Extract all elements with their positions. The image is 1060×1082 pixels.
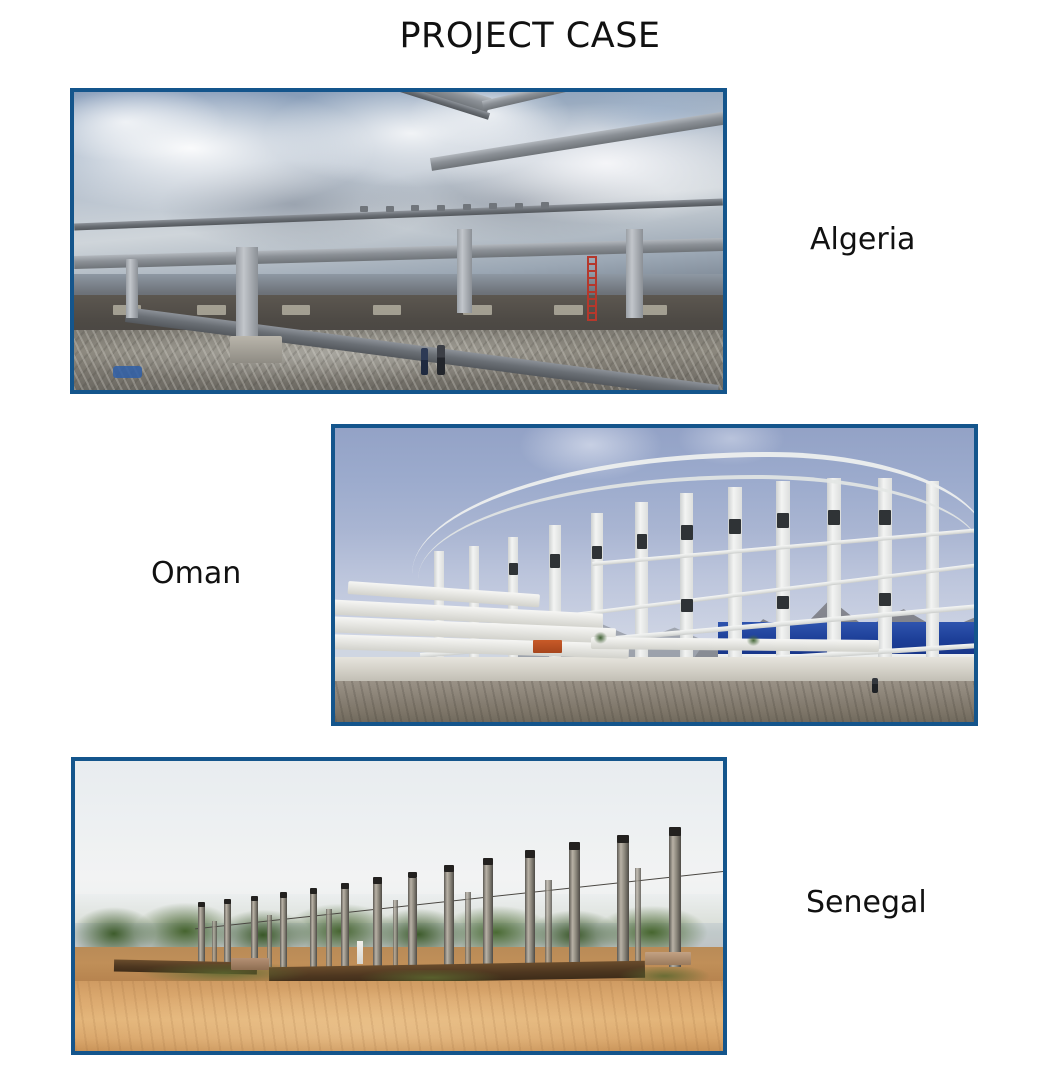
- steel-column-back: [635, 868, 641, 967]
- column-cap: [251, 896, 258, 902]
- photo-oman-canvas: [335, 428, 974, 722]
- steel-column: [669, 835, 682, 967]
- worker-b: [437, 345, 444, 375]
- column-cap: [483, 858, 493, 865]
- project-photo-oman[interactable]: [331, 424, 978, 726]
- column-mid: [457, 229, 473, 312]
- column-cap: [341, 883, 349, 889]
- photo-senegal-canvas: [75, 761, 723, 1051]
- steel-column-back: [465, 892, 471, 967]
- photo-algeria-canvas: [74, 92, 723, 390]
- concrete-footing: [645, 952, 690, 965]
- steel-column: [341, 888, 349, 968]
- column-cap: [569, 842, 580, 850]
- column-cap: [373, 877, 381, 883]
- survey-marker: [357, 941, 363, 964]
- caption-senegal: Senegal: [806, 885, 927, 920]
- steel-column: [569, 849, 580, 966]
- column-cap: [444, 865, 453, 872]
- steel-column: [525, 857, 536, 967]
- steel-column: [310, 893, 318, 968]
- steel-column: [617, 842, 629, 967]
- column-cap: [280, 892, 287, 898]
- caption-algeria: Algeria: [810, 222, 915, 257]
- palm-tree: [591, 631, 610, 649]
- column-cap: [525, 850, 536, 858]
- worker-a: [421, 348, 428, 375]
- steel-column-back: [393, 900, 399, 967]
- ladder: [587, 256, 597, 322]
- steel-column: [198, 906, 204, 970]
- column-cap: [310, 888, 318, 894]
- column-far-left: [126, 259, 138, 319]
- caption-oman: Oman: [151, 556, 241, 591]
- concrete-footing: [231, 958, 270, 970]
- steel-column: [408, 878, 417, 968]
- steel-column-back: [545, 880, 551, 967]
- column-right: [626, 229, 643, 318]
- column-cap: [408, 872, 417, 879]
- worker: [872, 678, 878, 693]
- palm-tree: [744, 634, 763, 650]
- concrete-block: [230, 336, 282, 363]
- column-cap: [198, 902, 204, 907]
- steel-column: [483, 864, 493, 967]
- page-title: PROJECT CASE: [0, 16, 1060, 56]
- column-cap: [669, 827, 682, 835]
- steel-column: [373, 883, 381, 967]
- orange-container: [533, 640, 562, 653]
- steel-column-back: [326, 909, 331, 967]
- blue-tarp: [113, 366, 142, 378]
- steel-column: [280, 897, 287, 970]
- column-cap: [617, 835, 629, 843]
- site-ground: [335, 681, 974, 722]
- steel-column: [444, 871, 453, 967]
- column-cap: [224, 899, 231, 904]
- steel-column: [224, 903, 231, 970]
- project-photo-senegal[interactable]: [71, 757, 727, 1055]
- steel-column-back: [212, 921, 217, 967]
- laterite-ground: [75, 981, 723, 1051]
- project-photo-algeria[interactable]: [70, 88, 727, 394]
